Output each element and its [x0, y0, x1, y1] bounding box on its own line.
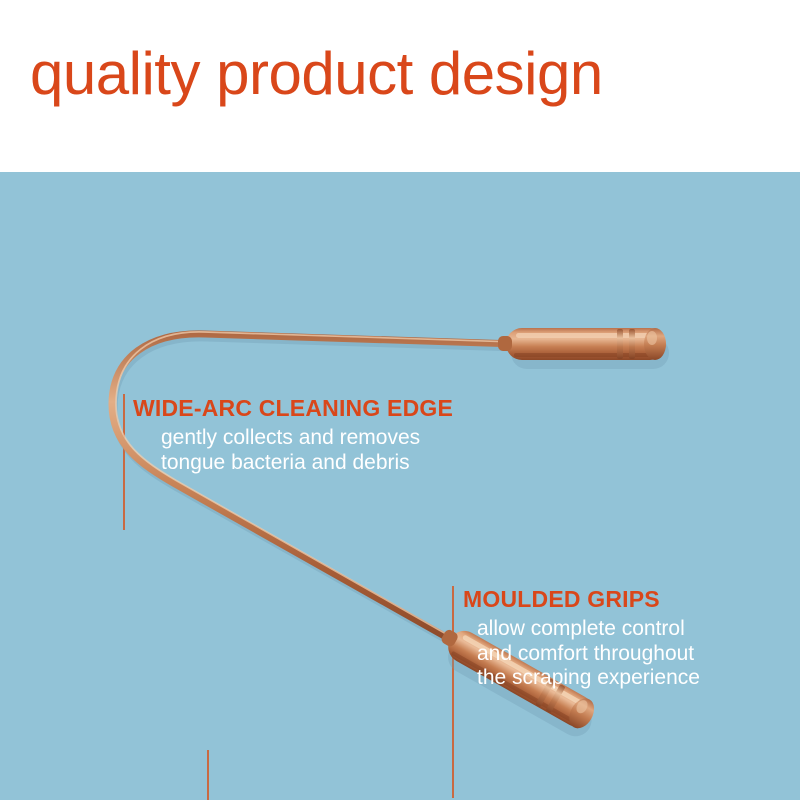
copper-tongue-scraper-illustration	[0, 172, 800, 800]
handle-top	[498, 328, 669, 369]
scraper-wire	[112, 332, 517, 646]
callout-wide-arc-body: gently collects and removes tongue bacte…	[133, 426, 453, 475]
page-title: quality product design	[30, 44, 603, 104]
handle-top-barrel	[506, 328, 666, 360]
leader-line-wide-arc	[123, 394, 125, 530]
callout-wide-arc-line-1: gently collects and removes	[161, 426, 453, 451]
product-stage: WIDE-ARC CLEANING EDGE gently collects a…	[0, 172, 800, 800]
header-band: quality product design	[0, 0, 800, 172]
callout-wide-arc: WIDE-ARC CLEANING EDGE gently collects a…	[133, 396, 453, 475]
leader-line-ergonomic	[207, 750, 209, 800]
callout-moulded-grips-line-3: the scraping experience	[477, 666, 700, 691]
callout-wide-arc-line-2: tongue bacteria and debris	[161, 451, 453, 476]
handle-top-groove-1	[617, 329, 623, 359]
callout-moulded-grips: MOULDED GRIPS allow complete control and…	[463, 587, 700, 691]
callout-wide-arc-heading: WIDE-ARC CLEANING EDGE	[133, 396, 453, 421]
callout-moulded-grips-line-1: allow complete control	[477, 617, 700, 642]
infographic-root: quality product design	[0, 0, 800, 800]
product-photo-panel: WIDE-ARC CLEANING EDGE gently collects a…	[0, 172, 800, 800]
handle-top-groove-2	[629, 329, 635, 359]
callout-moulded-grips-heading: MOULDED GRIPS	[463, 587, 700, 612]
callout-moulded-grips-line-2: and comfort throughout	[477, 642, 700, 667]
leader-line-moulded-grips	[452, 586, 454, 798]
callout-moulded-grips-body: allow complete control and comfort throu…	[463, 617, 700, 691]
wire-arc	[112, 334, 515, 642]
